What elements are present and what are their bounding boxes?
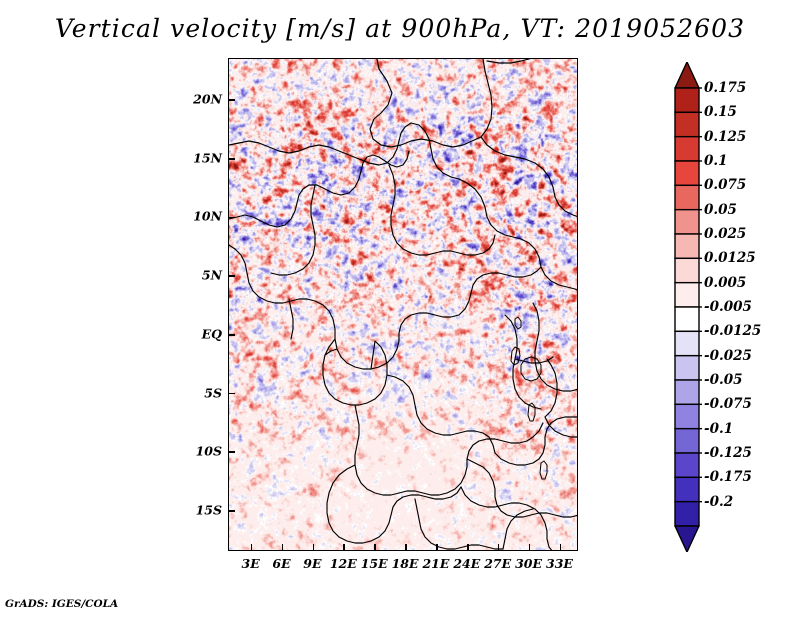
border-path [487, 59, 529, 63]
border-path [461, 487, 553, 551]
lat-tick-label: 15S [196, 502, 222, 517]
border-path [545, 417, 578, 437]
colorbar-band [675, 380, 699, 404]
border-path [289, 299, 293, 339]
colorbar-arrow-bottom [675, 526, 699, 552]
lat-tick-mark [229, 158, 235, 160]
colorbar-tick-label: -0.2 [704, 494, 733, 510]
page-title: Vertical velocity [m/s] at 900hPa, VT: 2… [0, 14, 800, 43]
colorbar-tick-label: 0.075 [704, 177, 746, 193]
border-path [327, 465, 371, 543]
colorbar-swatches [672, 62, 702, 552]
colorbar-arrow-top [675, 62, 699, 88]
lon-tick-label: 9E [303, 556, 321, 571]
colorbar-tick-label: 0.005 [704, 275, 746, 291]
lon-tick-label: 21E [422, 556, 449, 571]
colorbar-band [675, 307, 699, 331]
lat-tick-label: 20N [193, 92, 222, 107]
colorbar-tick-label: -0.0125 [704, 323, 761, 339]
lon-tick-mark [529, 544, 531, 550]
colorbar-band [675, 404, 699, 428]
colorbar-tick-label: 0.05 [704, 202, 737, 218]
border-path [355, 405, 543, 495]
colorbar-tick-label: 0.1 [704, 153, 728, 169]
lon-tick-mark [405, 544, 407, 550]
colorbar-tick-label: 0.0125 [704, 250, 756, 266]
colorbar-band [675, 429, 699, 453]
border-path [323, 339, 387, 405]
colorbar: 0.1750.150.1250.10.0750.050.0250.01250.0… [672, 62, 798, 552]
lat-tick-mark [229, 334, 235, 336]
lon-tick-mark [560, 544, 562, 550]
lon-tick-label: 18E [392, 556, 419, 571]
lon-tick-mark [343, 544, 345, 550]
lon-tick-label: 27E [484, 556, 511, 571]
border-path [389, 165, 419, 255]
border-path [481, 59, 492, 137]
colorbar-band [675, 283, 699, 307]
colorbar-tick-label: 0.15 [704, 104, 737, 120]
colorbar-tick-label: -0.175 [704, 469, 752, 485]
border-path [541, 267, 578, 291]
lat-tick-label: EQ [202, 326, 222, 341]
border-path [481, 137, 555, 197]
colorbar-band [675, 137, 699, 161]
lon-tick-label: 33E [546, 556, 573, 571]
lat-tick-label: 10S [196, 444, 222, 459]
lon-tick-mark [436, 544, 438, 550]
border-path [370, 59, 481, 147]
border-path [271, 185, 315, 275]
colorbar-band [675, 185, 699, 209]
colorbar-tick-label: -0.125 [704, 445, 752, 461]
border-path [467, 459, 578, 517]
colorbar-tick-label: 0.025 [704, 226, 746, 242]
latitude-axis: 20N15N10N5NEQ5S10S15S [178, 58, 222, 551]
lon-tick-label: 30E [515, 556, 542, 571]
lat-tick-mark [229, 393, 235, 395]
country-borders-overlay [229, 59, 578, 551]
longitude-axis: 3E6E9E12E15E18E21E24E27E30E33E [228, 556, 578, 576]
colorbar-band [675, 112, 699, 136]
lon-tick-label: 15E [361, 556, 388, 571]
colorbar-band [675, 331, 699, 355]
lon-tick-label: 3E [242, 556, 260, 571]
colorbar-band [675, 453, 699, 477]
map-plot-area [228, 58, 578, 551]
colorbar-tick-label: -0.005 [704, 299, 752, 315]
border-path [419, 235, 495, 255]
lon-tick-mark [498, 544, 500, 550]
colorbar-tick-label: -0.05 [704, 372, 742, 388]
border-path [459, 179, 541, 267]
border-path [411, 123, 459, 179]
colorbar-band [675, 502, 699, 526]
colorbar-band [675, 161, 699, 185]
lon-tick-mark [467, 544, 469, 550]
lat-tick-mark [229, 510, 235, 512]
grads-credit: GrADS: IGES/COLA [5, 598, 118, 610]
colorbar-band [675, 234, 699, 258]
lake-outline [540, 461, 547, 479]
plot-frame [228, 58, 578, 551]
lake-outline [515, 317, 521, 329]
colorbar-band [675, 356, 699, 380]
colorbar-band [675, 210, 699, 234]
lon-tick-mark [282, 544, 284, 550]
lat-tick-label: 5N [202, 268, 222, 283]
lat-tick-label: 15N [193, 150, 222, 165]
lat-tick-label: 5S [204, 385, 222, 400]
colorbar-band [675, 88, 699, 112]
colorbar-band [675, 258, 699, 282]
border-path [229, 151, 409, 227]
lake-outline [521, 357, 541, 381]
border-path [335, 339, 371, 369]
colorbar-tick-label: 0.175 [704, 80, 746, 96]
lon-tick-label: 6E [272, 556, 290, 571]
colorbar-tick-label: -0.025 [704, 348, 752, 364]
colorbar-tick-label: 0.125 [704, 129, 746, 145]
lon-tick-mark [374, 544, 376, 550]
colorbar-tick-label: -0.1 [704, 421, 733, 437]
lat-tick-mark [229, 275, 235, 277]
border-path [229, 245, 335, 339]
lat-tick-mark [229, 217, 235, 219]
lat-tick-mark [229, 451, 235, 453]
border-path [229, 123, 411, 165]
lat-tick-mark [229, 99, 235, 101]
colorbar-tick-label: -0.075 [704, 396, 752, 412]
lon-tick-mark [313, 544, 315, 550]
colorbar-band [675, 477, 699, 501]
lon-tick-label: 24E [453, 556, 480, 571]
border-path [495, 417, 578, 465]
lat-tick-label: 10N [193, 209, 222, 224]
lon-tick-label: 12E [330, 556, 357, 571]
border-path [545, 359, 557, 417]
lon-tick-mark [251, 544, 253, 550]
border-path [555, 197, 578, 217]
